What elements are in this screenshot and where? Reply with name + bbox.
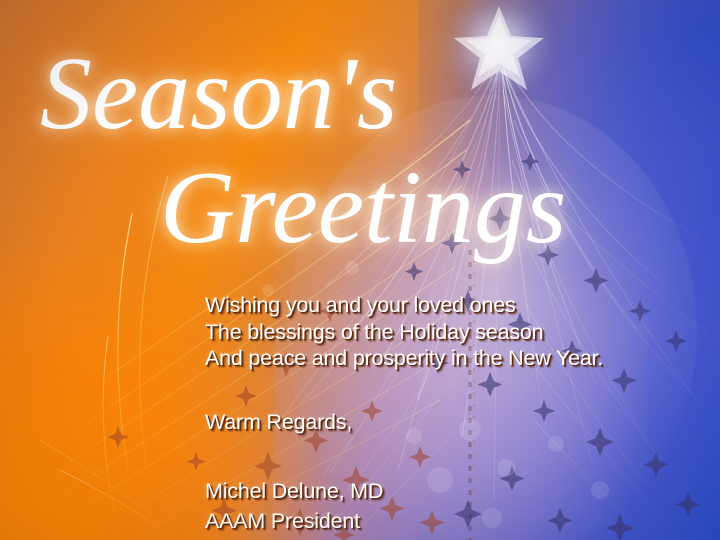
message-line-3: And peace and prosperity in the New Year… [205,345,705,372]
signoff: Warm Regards, [205,407,705,437]
spacer-2 [205,441,705,476]
star-topper-icon [441,0,557,102]
message-line-1: Wishing you and your loved ones [205,292,705,319]
message-line-2: The blessings of the Holiday season [205,319,705,346]
spacer [205,372,705,407]
signature-title: AAAM President [205,506,705,536]
message-block: Wishing you and your loved ones The bles… [205,292,705,536]
greeting-card: Season's Greetings Wishing you and your … [0,0,720,540]
signature-name: Michel Delune, MD [205,476,705,506]
signature-block: Michel Delune, MD AAAM President [205,441,705,536]
